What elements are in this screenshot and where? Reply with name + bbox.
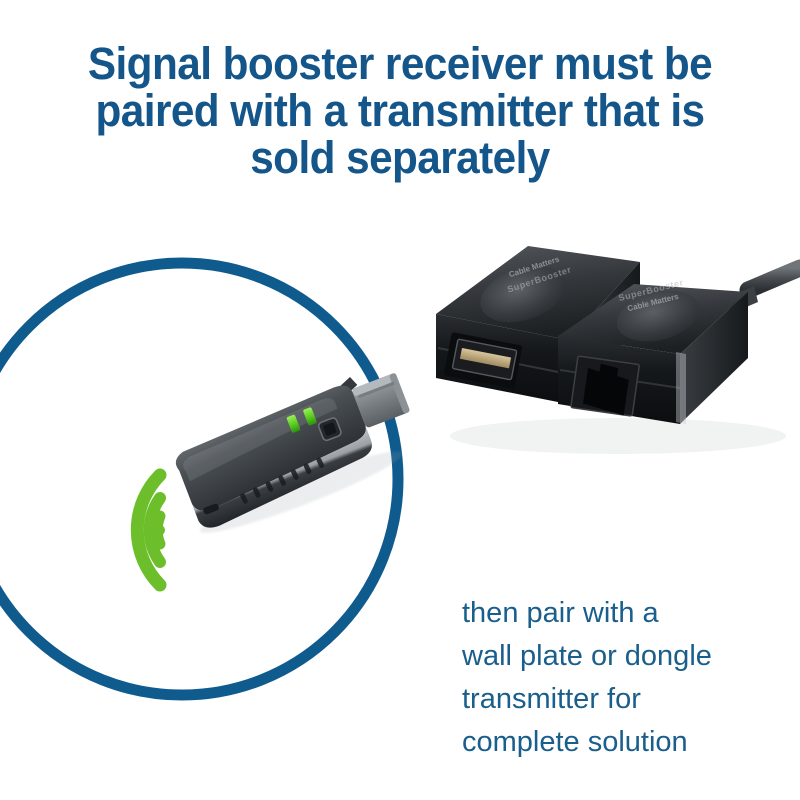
caption-line-3: transmitter for xyxy=(462,678,792,721)
wireless-signal-arcs xyxy=(10,440,180,620)
rj45-port xyxy=(571,356,640,416)
attached-cable xyxy=(748,268,800,290)
caption-line-2: wall plate or dongle xyxy=(462,635,792,678)
product-marketing-image: Signal booster receiver must be paired w… xyxy=(0,0,800,800)
transmitters-shadow xyxy=(450,418,786,454)
headline-line-2: paired with a transmitter that is xyxy=(24,87,776,134)
caption-line-4: complete solution xyxy=(462,721,792,764)
signal-booster-receiver-dongle xyxy=(160,372,430,542)
caption: then pair with a wall plate or dongle tr… xyxy=(462,592,792,764)
headline: Signal booster receiver must be paired w… xyxy=(24,40,776,181)
transmitter-devices: Cable Matters SuperBooster xyxy=(418,228,800,468)
headline-line-1: Signal booster receiver must be xyxy=(24,40,776,87)
headline-line-3: sold separately xyxy=(24,134,776,181)
caption-line-1: then pair with a xyxy=(462,592,792,635)
eth-box-corner-gloss xyxy=(676,352,686,424)
